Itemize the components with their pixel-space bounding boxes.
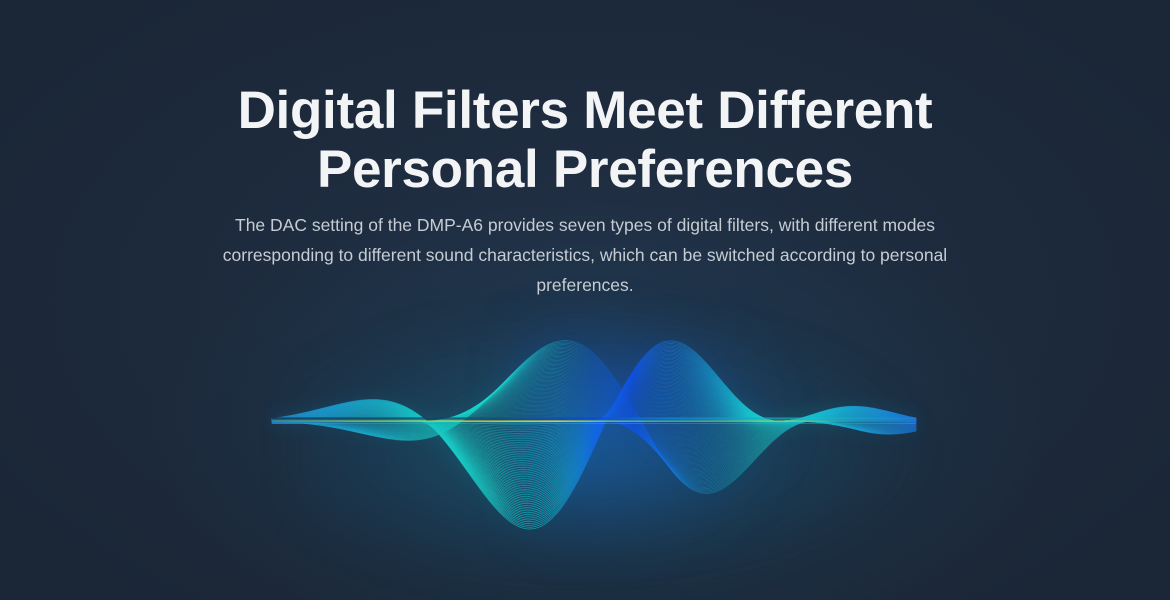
page-subtitle: The DAC setting of the DMP-A6 provides s…: [190, 210, 980, 300]
hero-banner: Digital Filters Meet Different Personal …: [0, 0, 1170, 600]
page-title: Digital Filters Meet Different Personal …: [0, 81, 1170, 199]
